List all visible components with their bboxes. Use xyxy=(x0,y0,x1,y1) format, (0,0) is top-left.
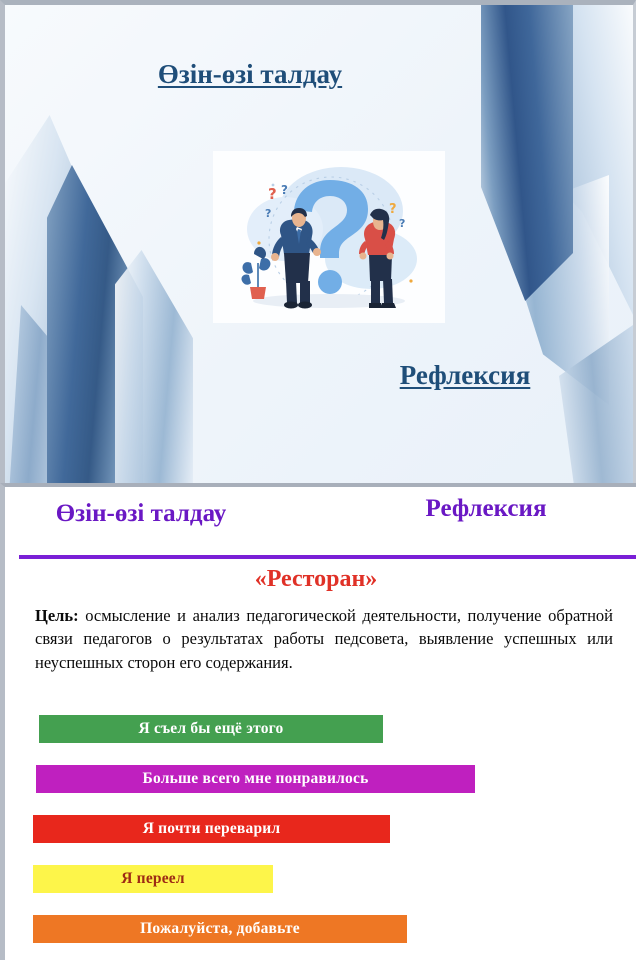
feedback-bars-list: Я съел бы ещё этогоБольше всего мне понр… xyxy=(5,715,636,960)
feedback-bar-label: Я съел бы ещё этого xyxy=(139,720,284,738)
goal-paragraph: Цель: осмысление и анализ педагогической… xyxy=(35,604,613,674)
slide-one-background: Өзін-өзі талдау xyxy=(5,5,633,483)
decorative-prism-left-2 xyxy=(47,165,143,483)
decorative-prism-right-1 xyxy=(501,5,633,331)
svg-text:?: ? xyxy=(265,207,271,220)
decorative-prism-left-3 xyxy=(115,250,193,483)
slide-one: Өзін-өзі талдау xyxy=(0,0,636,483)
decorative-prism-left-1 xyxy=(5,115,125,483)
feedback-bar-label: Я почти переварил xyxy=(143,820,281,838)
slide-one-title-kk: Өзін-өзі талдау xyxy=(115,55,385,94)
feedback-bar-label: Пожалуйста, добавьте xyxy=(140,920,300,938)
svg-text:?: ? xyxy=(389,202,397,217)
feedback-bar[interactable]: Больше всего мне понравилось xyxy=(36,765,475,793)
slide-two-heading-ru: Рефлексия xyxy=(361,495,611,523)
decorative-prism-right-4 xyxy=(559,325,633,483)
feedback-bar-label: Я переел xyxy=(121,870,185,888)
feedback-bar[interactable]: Я съел бы ещё этого xyxy=(39,715,383,743)
slide-two-subtitle: «Ресторан» xyxy=(201,566,431,593)
goal-label: Цель: xyxy=(35,606,79,625)
heading-divider-rule xyxy=(19,555,636,559)
slide-two: Өзін-өзі талдау Рефлексия «Ресторан» Цел… xyxy=(0,483,636,960)
slide-one-title-ru: Рефлексия xyxy=(325,360,605,391)
svg-text:?: ? xyxy=(281,183,288,197)
question-mark-illustration: ? ? ? ? ? xyxy=(213,151,445,323)
goal-text: осмысление и анализ педагогической деяте… xyxy=(35,606,613,672)
svg-text:?: ? xyxy=(399,217,405,230)
slide-deck-page: Өзін-өзі талдау xyxy=(0,0,636,960)
feedback-bar[interactable]: Я почти переварил xyxy=(33,815,390,843)
feedback-bar-label: Больше всего мне понравилось xyxy=(143,770,369,788)
feedback-bar[interactable]: Пожалуйста, добавьте xyxy=(33,915,407,943)
slide-two-heading-kk: Өзін-өзі талдау xyxy=(31,495,251,534)
feedback-bar[interactable]: Я переел xyxy=(33,865,273,893)
svg-text:?: ? xyxy=(268,185,277,203)
decorative-prism-right-2 xyxy=(481,5,573,301)
decorative-prism-left-4 xyxy=(9,305,69,483)
